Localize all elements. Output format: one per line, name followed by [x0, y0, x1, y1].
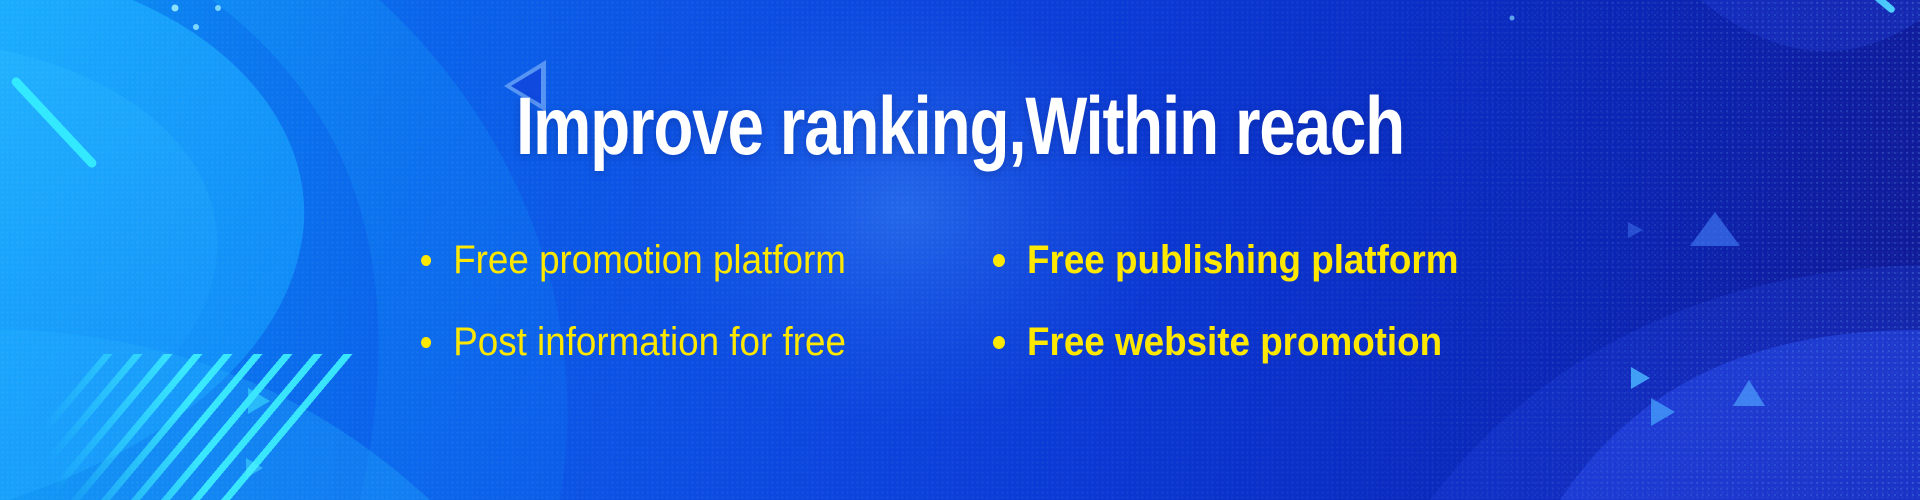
bullet-dot-icon — [421, 255, 431, 266]
bullet-dot-icon — [421, 337, 431, 348]
banner-headline: Improve ranking,Within reach — [192, 86, 1728, 168]
list-item: Free website promotion — [993, 322, 1458, 362]
list-item: Free publishing platform — [993, 240, 1458, 280]
list-item-label: Free website promotion — [1027, 322, 1442, 362]
list-item: Post information for free — [421, 322, 846, 362]
feature-column-right: Free publishing platform Free website pr… — [993, 240, 1499, 362]
feature-column-left: Free promotion platform Post information… — [421, 240, 883, 362]
list-item-label: Post information for free — [453, 322, 846, 362]
bullet-dot-icon — [993, 254, 1005, 267]
bullet-dot-icon — [993, 336, 1005, 349]
promo-banner: Improve ranking,Within reach Free promot… — [0, 0, 1920, 500]
list-item: Free promotion platform — [421, 240, 846, 280]
banner-content: Improve ranking,Within reach Free promot… — [0, 0, 1920, 500]
list-item-label: Free promotion platform — [453, 240, 846, 280]
feature-lists: Free promotion platform Post information… — [0, 240, 1920, 362]
list-item-label: Free publishing platform — [1027, 240, 1458, 280]
